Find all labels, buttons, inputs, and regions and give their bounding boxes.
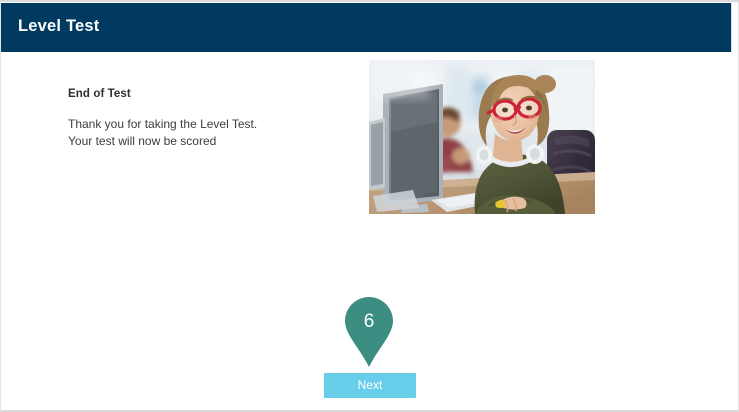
- end-of-test-body-line-1: Thank you for taking the Level Test.: [68, 116, 338, 133]
- end-of-test-body-line-2: Your test will now be scored: [68, 133, 338, 150]
- next-button[interactable]: Next: [324, 373, 416, 398]
- progress-pin-number: 6: [345, 311, 393, 333]
- app-header: Level Test: [1, 3, 731, 52]
- end-of-test-photo: [369, 60, 595, 214]
- end-of-test-body: Thank you for taking the Level Test. You…: [68, 116, 338, 150]
- page-title: Level Test: [18, 17, 99, 36]
- end-of-test-text-block: End of Test Thank you for taking the Lev…: [68, 88, 338, 150]
- map-pin-icon: [345, 297, 397, 369]
- photo-icon: [369, 60, 595, 214]
- progress-pin: 6: [345, 297, 397, 369]
- level-test-screen: Level Test End of Test Thank you for tak…: [0, 0, 739, 412]
- end-of-test-heading: End of Test: [68, 88, 338, 100]
